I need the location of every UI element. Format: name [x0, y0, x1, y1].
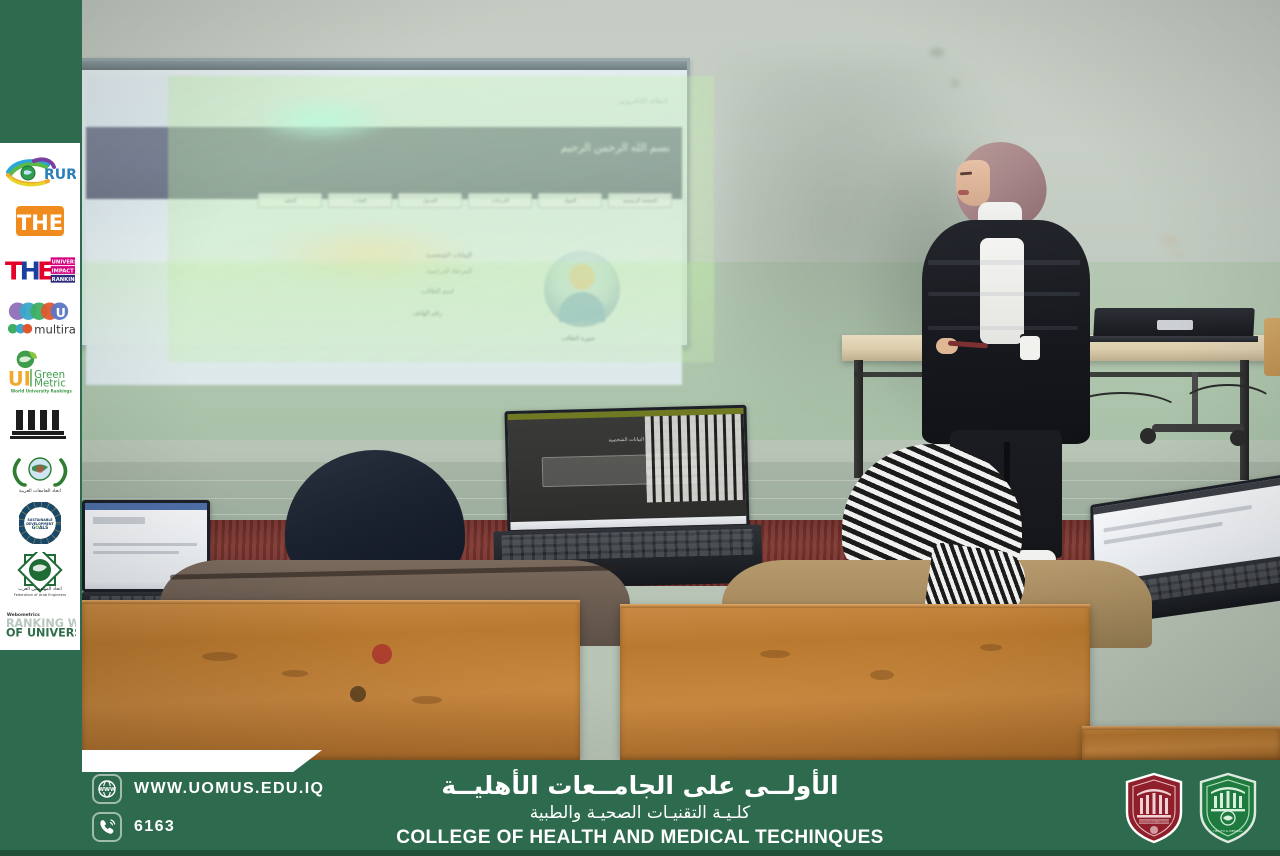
svg-text:WWW: WWW: [98, 787, 116, 793]
wall-blemish: [930, 48, 944, 57]
footer-phone-row[interactable]: 6163: [92, 812, 324, 842]
wall-blemish: [951, 80, 959, 86]
wheeled-chair-seat: [1264, 318, 1280, 376]
projector-glare: [246, 95, 396, 143]
blazer-stripe: [928, 292, 1080, 296]
svg-text:HEALTH & MEDICAL: HEALTH & MEDICAL: [1213, 829, 1243, 833]
accreditation-badge-panel: RUR THE T H E UNIVERSITY: [0, 143, 80, 650]
svg-text:World University Rankings: World University Rankings: [11, 388, 73, 393]
projected-tab: الجدول: [398, 193, 462, 208]
projected-tab: الغياب: [328, 193, 392, 208]
footer-website-row[interactable]: WWW WWW.UOMUS.EDU.IQ: [92, 774, 324, 804]
college-shield-logo-green: HEALTH & MEDICAL: [1198, 772, 1258, 844]
svg-text:AL-MUSTAQBAL UNIVERSITY: AL-MUSTAQBAL UNIVERSITY: [1132, 820, 1177, 824]
svg-text:OF UNIVERSITIES: OF UNIVERSITIES: [6, 627, 76, 638]
svg-text:RUR: RUR: [44, 167, 76, 183]
projected-tab: الملف: [258, 193, 322, 208]
webometrics-ranking-web-logo: Webometrics RANKING WEB OF UNIVERSITIES: [4, 606, 76, 640]
projected-top-note: النظام الإلكتروني: [619, 97, 668, 105]
laptop-screen-titlebar: [85, 503, 207, 510]
chair-caster: [1230, 430, 1246, 446]
phone-ring-icon: [92, 812, 122, 842]
footer-logo-group: AL-MUSTAQBAL UNIVERSITY HEALTH & MEDI: [1124, 772, 1258, 844]
projected-tab-row: الصفحة الرئيسيةالموادالدرجاتالجدولالغياب…: [258, 193, 672, 208]
svg-text:اتحاد الجامعات العربية: اتحاد الجامعات العربية: [19, 489, 61, 494]
svg-text:Federation of Arab Engineers: Federation of Arab Engineers: [14, 593, 66, 597]
svg-text:RANKINGS: RANKINGS: [52, 277, 76, 283]
projector-light-spill: [82, 262, 714, 370]
footer-website-label: WWW.UOMUS.EDU.IQ: [134, 780, 324, 798]
presenter-standing: [894, 142, 1104, 472]
whiteboard-rail: [82, 61, 687, 70]
svg-text:U: U: [56, 305, 66, 320]
blazer-stripe: [928, 260, 1080, 265]
bench-front-right: [620, 604, 1090, 760]
svg-text:GOALS: GOALS: [32, 525, 49, 531]
presenter-face: [956, 160, 990, 206]
footer-notch: [82, 750, 322, 772]
svg-text:THE: THE: [17, 211, 63, 235]
projected-tab: الصفحة الرئيسية: [608, 193, 672, 208]
classroom-presentation-photo: ـ ـ ـ ـ ـ ـ ـ ـ ـ النظام الإلكتروني بسم …: [82, 0, 1280, 760]
wall-blemish: [1162, 235, 1178, 246]
laptop-sticker: [1157, 320, 1193, 330]
projected-tab: الدرجات: [468, 193, 532, 208]
projected-tab: المواد: [538, 193, 602, 208]
svg-text:UI: UI: [8, 368, 31, 391]
svg-text:multirank: multirank: [34, 323, 76, 337]
svg-text:IMPACT: IMPACT: [52, 268, 74, 274]
association-of-arab-universities-logo: اتحاد الجامعات العربية: [4, 451, 76, 495]
laptop-base: [1082, 336, 1258, 342]
u-multirank-logo: U multirank: [4, 298, 76, 340]
desk-leg: [1240, 360, 1249, 480]
university-shield-logo-red: AL-MUSTAQBAL UNIVERSITY: [1124, 772, 1184, 844]
pillars-institution-logo: [4, 402, 76, 444]
presenter-lips: [958, 190, 969, 195]
rur-rankings-logo: RUR: [4, 151, 76, 193]
page-frame: ـ ـ ـ ـ ـ ـ ـ ـ ـ النظام الإلكتروني بسم …: [0, 0, 1280, 856]
left-green-rail: RUR THE T H E UNIVERSITY: [0, 0, 82, 856]
svg-text:UNIVERSITY: UNIVERSITY: [52, 260, 76, 266]
the-university-impact-rankings-logo: T H E UNIVERSITY IMPACT RANKINGS: [4, 249, 76, 291]
ui-greenmetric-logo: UI Green Metric World University Ranking…: [4, 347, 76, 395]
federation-of-arab-engineers-logo: اتحاد المهندسين العرب Federation of Arab…: [4, 551, 76, 599]
footer-bottom-rule: [0, 850, 1280, 856]
desk-leg: [854, 360, 863, 478]
footer-phone-label: 6163: [134, 818, 175, 836]
bench-front-left: [82, 600, 580, 760]
sdg-wheel-logo: SUSTAINABLE DEVELOPMENT GOALS: [4, 502, 76, 544]
presenter-cuff: [1020, 336, 1040, 360]
the-rankings-logo: THE: [4, 200, 76, 242]
wall-blemish: [1175, 250, 1184, 257]
laptop-screen-thumbnail-grid: [645, 414, 746, 502]
bench-far-right: [1082, 726, 1280, 760]
globe-www-icon: WWW: [92, 774, 122, 804]
blazer-stripe: [928, 326, 1078, 330]
svg-text:اتحاد المهندسين العرب: اتحاد المهندسين العرب: [18, 587, 62, 592]
page-footer: WWW WWW.UOMUS.EDU.IQ 6163 الأولــى على ا…: [0, 760, 1280, 856]
projected-header-title: بسم الله الرحمن الرحيم: [561, 141, 670, 154]
footer-contact-block: WWW WWW.UOMUS.EDU.IQ 6163: [92, 774, 324, 842]
